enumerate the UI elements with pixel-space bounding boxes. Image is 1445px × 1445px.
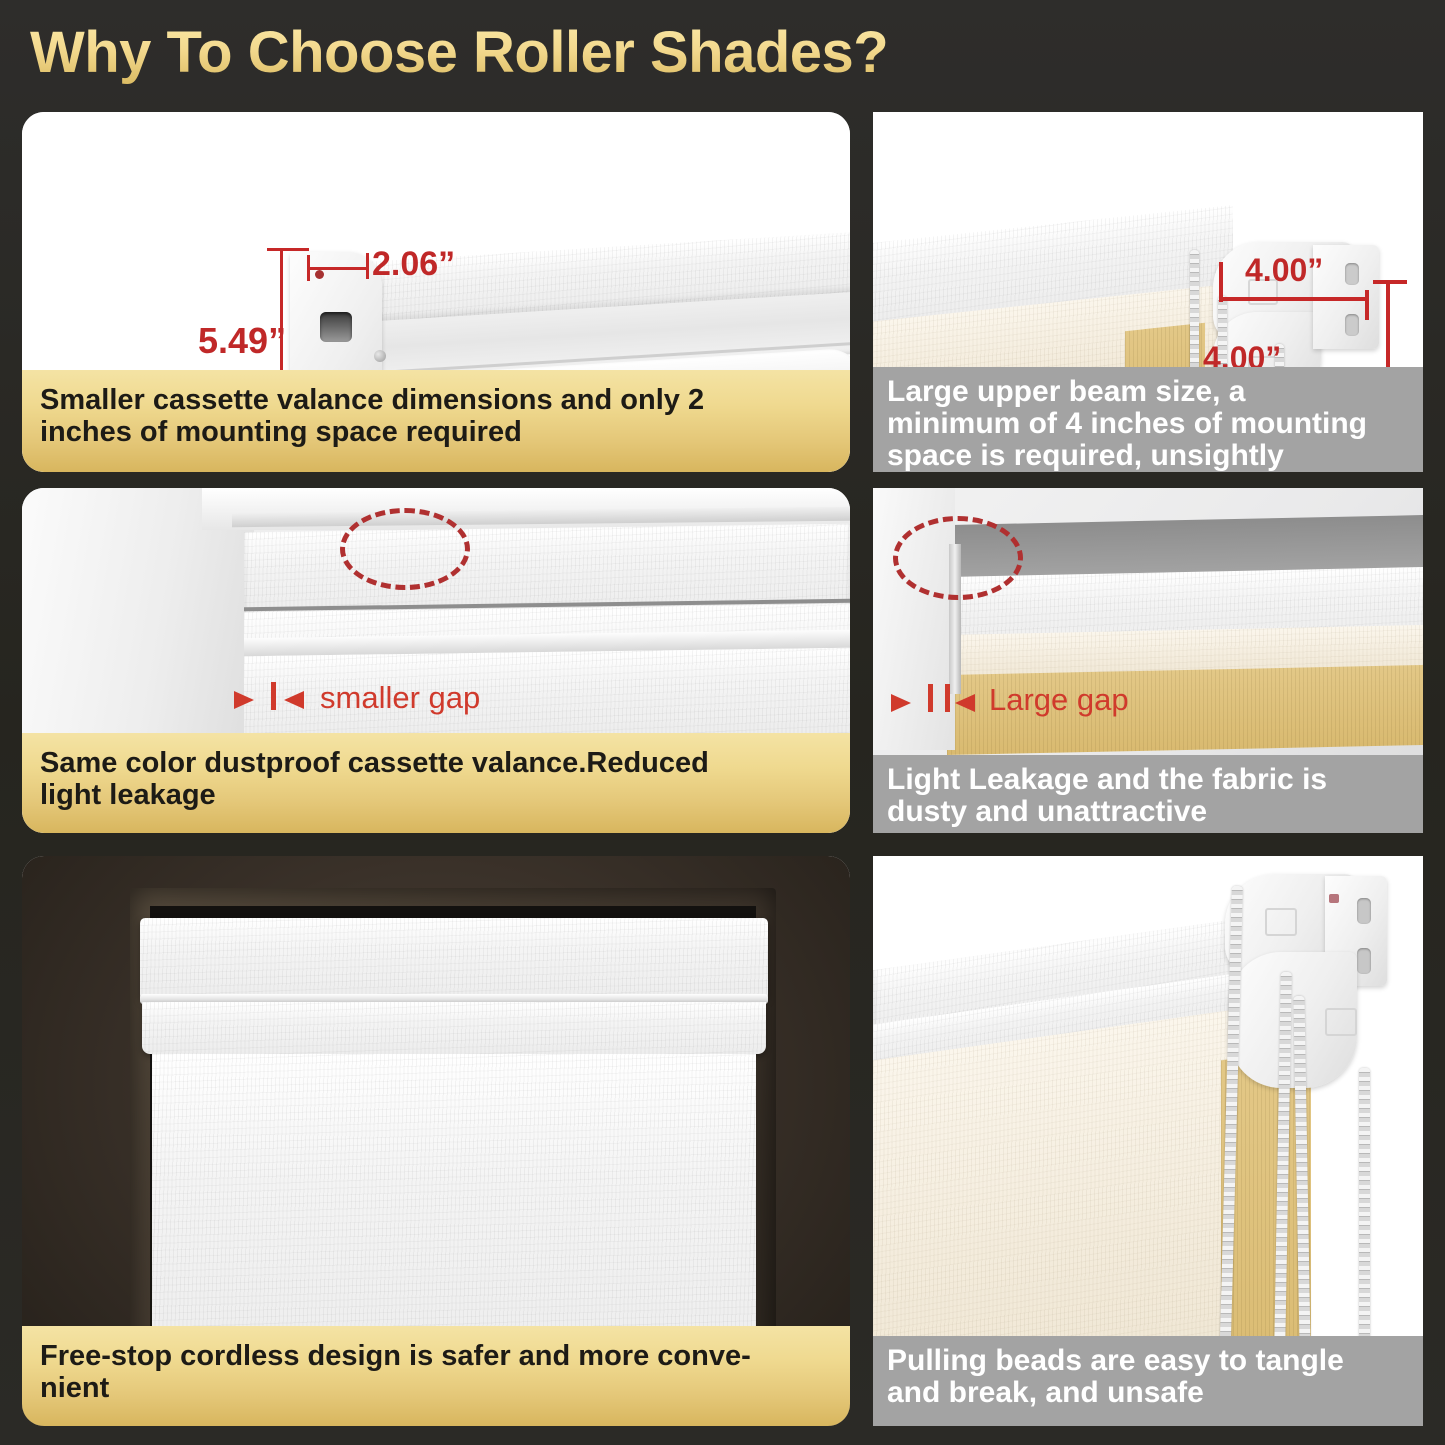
panel-light-leakage: Large gap Light Leakage and the fabric i… — [873, 488, 1423, 833]
panel-4-caption-line-2: dusty and unattractive — [887, 796, 1327, 828]
gap-highlight-ellipse — [340, 508, 470, 590]
leak-gap-marker-bar-b — [945, 684, 950, 712]
cordless-valance-lower — [142, 1002, 766, 1054]
panel-6-caption-line-1: Pulling beads are easy to tangle — [887, 1345, 1344, 1377]
panel-1-caption: Smaller cassette valance dimensions and … — [22, 370, 850, 472]
panel-1-caption-line-1: Smaller cassette valance dimensions and … — [40, 384, 704, 416]
panel-2-caption: Large upper beam size, a minimum of 4 in… — [873, 367, 1423, 472]
dimension-label-width: 2.06” — [372, 245, 455, 284]
panel-6-caption: Pulling beads are easy to tangle and bre… — [873, 1336, 1423, 1426]
gap-marker-bar — [271, 682, 276, 710]
panel-same-color-valance: smaller gap Same color dustproof cassett… — [22, 488, 850, 833]
bracket-keyhole-1 — [1345, 263, 1359, 285]
panel-1-caption-line-2: inches of mounting space required — [40, 416, 704, 448]
beads-bracket-red-dot — [1329, 894, 1339, 903]
leak-gap-arrow-left — [891, 694, 911, 712]
panel-large-upper-beam: 4.00” 4.00” Large upper beam size, a min… — [873, 112, 1423, 472]
panel-4-caption-line-1: Light Leakage and the fabric is — [887, 764, 1327, 796]
infographic-root: Why To Choose Roller Shades? 5.49” — [0, 0, 1445, 1445]
beam-dim-width-line — [1219, 297, 1369, 301]
gap-label-large: Large gap — [989, 682, 1129, 718]
beads-bracket-icon-1 — [1265, 908, 1297, 936]
panel-2-caption-line-1: Large upper beam size, a — [887, 376, 1367, 408]
gap-arrow-left — [234, 691, 254, 709]
beam-dim-width-tick-left — [1219, 262, 1223, 302]
dim-width-tick-right — [366, 253, 369, 279]
panel-3-caption: Same color dustproof cassette valance.Re… — [22, 733, 850, 833]
panel-5-caption-line-2: nient — [40, 1372, 751, 1404]
cordless-valance — [140, 918, 768, 1000]
panel-6-caption-line-2: and break, and unsafe — [887, 1377, 1344, 1409]
bracket-slot-upper — [320, 312, 352, 342]
panel-3-caption-line-2: light leakage — [40, 779, 709, 811]
panel-cordless-design: Free-stop cordless design is safer and m… — [22, 856, 850, 1426]
leak-highlight-ellipse — [893, 516, 1023, 600]
dim-width-tick-left — [307, 255, 310, 281]
bracket-keyhole-2 — [1345, 314, 1359, 336]
page-title: Why To Choose Roller Shades? — [30, 18, 1030, 88]
dim-height-tick-top — [267, 248, 309, 251]
panel-4-caption: Light Leakage and the fabric is dusty an… — [873, 755, 1423, 833]
panel-2-caption-line-2: minimum of 4 inches of mounting — [887, 408, 1367, 440]
beads-bracket-icon-2 — [1325, 1008, 1357, 1036]
gap-label-smaller: smaller gap — [320, 680, 480, 716]
dimension-label-height: 5.49” — [198, 320, 286, 362]
beam-dim-width-tick-right — [1365, 290, 1369, 320]
panel-5-caption: Free-stop cordless design is safer and m… — [22, 1326, 850, 1426]
beads-bracket-keyhole-1 — [1357, 898, 1371, 924]
leak-gap-arrow-right — [955, 694, 975, 712]
dimension-label-beam-width: 4.00” — [1245, 252, 1323, 289]
cordless-shade-fabric — [152, 1054, 756, 1372]
bracket-screw-upper — [374, 350, 386, 362]
panel-smaller-cassette: 5.49” 2.06” Smaller cassette valance dim… — [22, 112, 850, 472]
bracket-red-dot — [315, 270, 324, 279]
panel-2-caption-line-3: space is required, unsightly — [887, 440, 1367, 472]
beads-bracket-keyhole-2 — [1357, 948, 1371, 974]
dim-width-line — [307, 267, 369, 270]
beam-dim-height-tick-top — [1373, 280, 1407, 284]
panel-pulling-beads: Pulling beads are easy to tangle and bre… — [873, 856, 1423, 1426]
gap-arrow-right — [284, 691, 304, 709]
panel-3-caption-line-1: Same color dustproof cassette valance.Re… — [40, 747, 709, 779]
panel-5-caption-line-1: Free-stop cordless design is safer and m… — [40, 1340, 751, 1372]
leak-gap-marker-bar-a — [928, 684, 933, 712]
